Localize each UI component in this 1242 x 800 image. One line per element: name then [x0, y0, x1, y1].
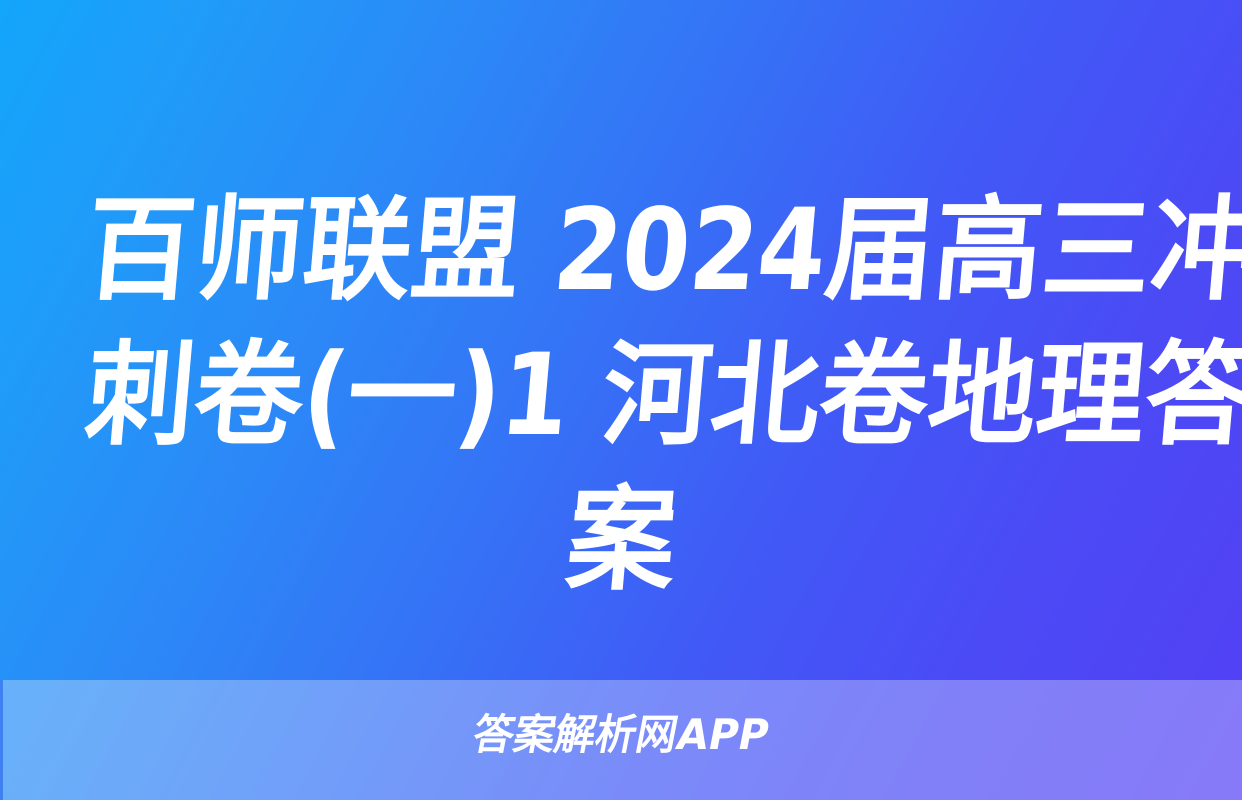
title-line-2-text: 刺卷(一)1 河北卷地理答	[80, 323, 1242, 468]
title-line-1: 百师联盟 2024届高三冲	[56, 178, 1187, 323]
app-watermark-text: 答案解析网APP	[468, 709, 773, 761]
poster-canvas: 百师联盟 2024届高三冲 刺卷(一)1 河北卷地理答 案 答案解析网APP	[0, 0, 1242, 800]
poster-title: 百师联盟 2024届高三冲 刺卷(一)1 河北卷地理答 案	[0, 178, 1242, 613]
app-watermark: 答案解析网APP	[0, 709, 1242, 761]
title-line-3: 案	[56, 468, 1187, 613]
title-line-3-text: 案	[560, 468, 681, 613]
title-line-2: 刺卷(一)1 河北卷地理答	[56, 323, 1187, 468]
title-line-1-text: 百师联盟 2024届高三冲	[80, 178, 1242, 323]
